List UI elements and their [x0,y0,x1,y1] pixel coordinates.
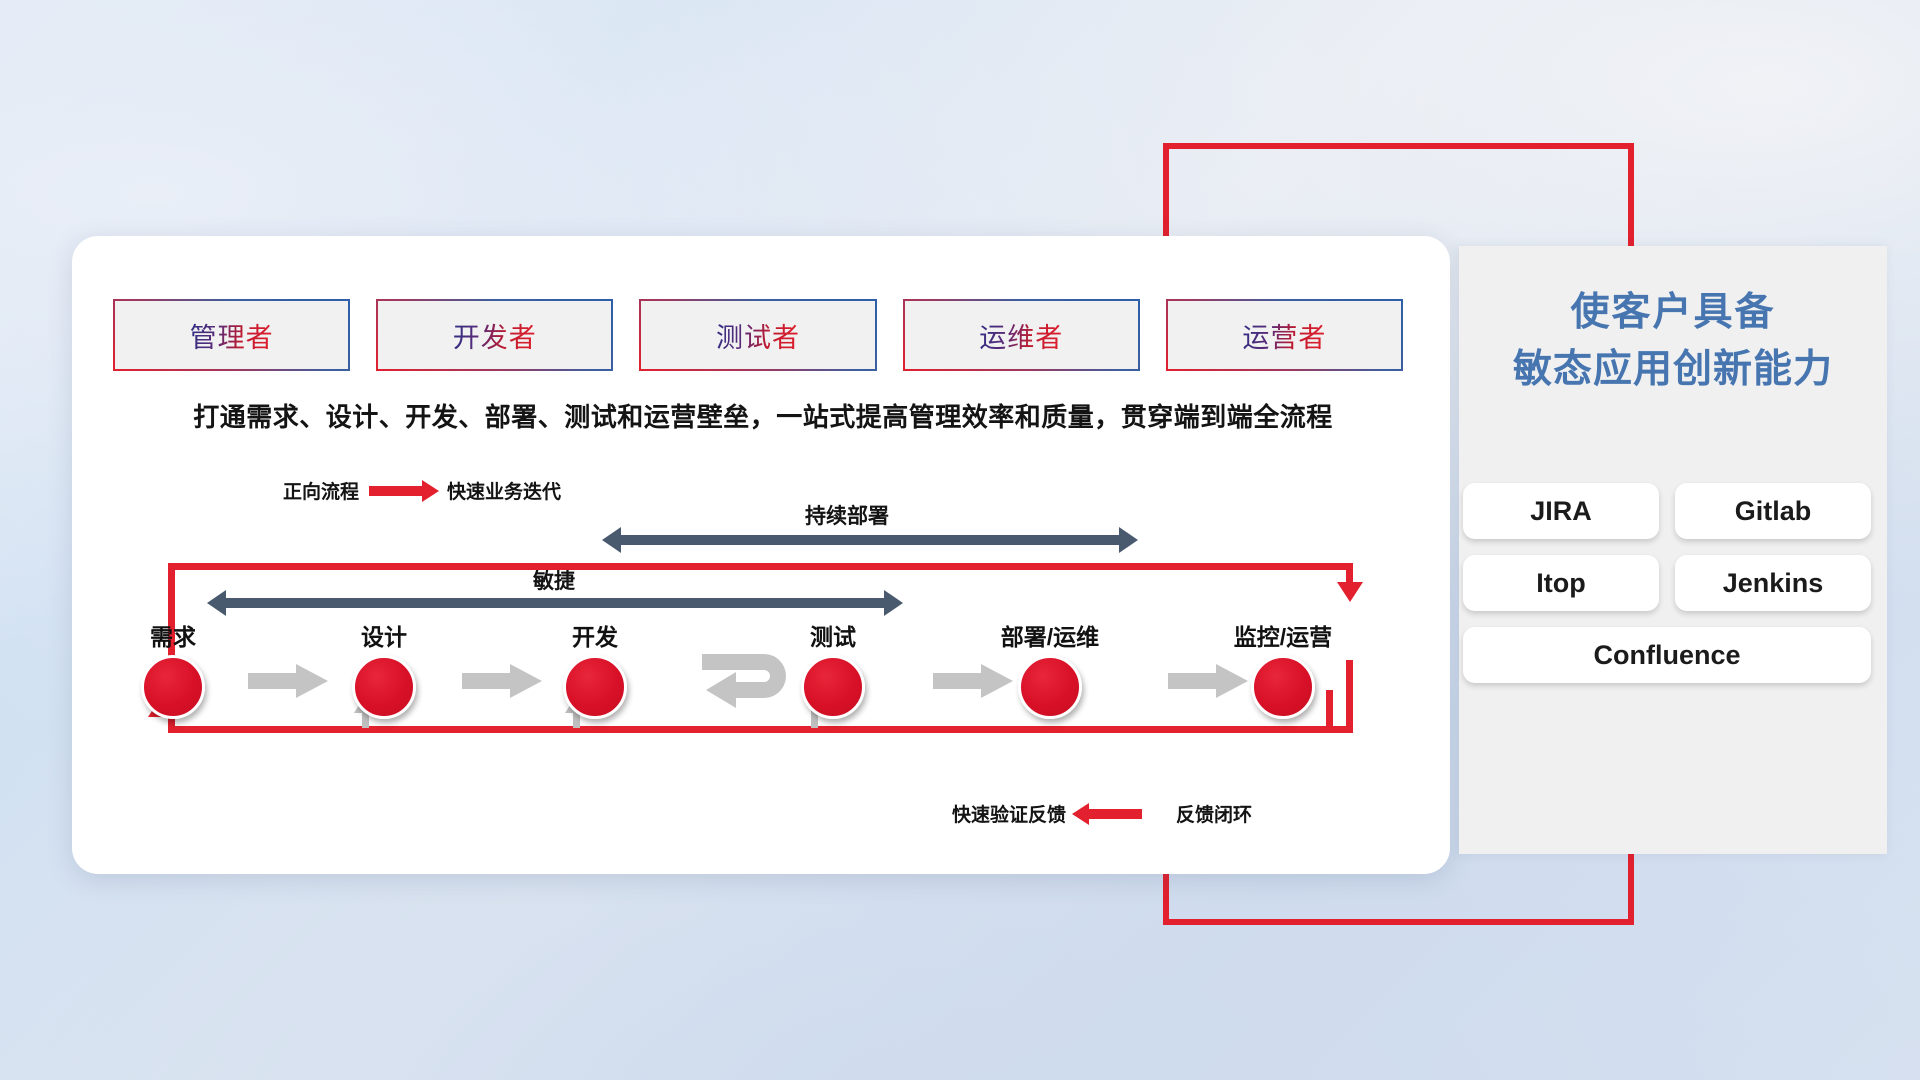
role-box-manager[interactable]: 管理者 [113,299,350,371]
stage-label: 测试 [768,618,898,652]
tool-pill-confluence[interactable]: Confluence [1463,627,1871,683]
stage-dot [1018,655,1082,719]
tool-label: Jenkins [1723,568,1824,599]
chevron-deploy-to-monitor-icon [1168,664,1234,690]
role-label: 测试者 [716,316,800,355]
stage-dot [1251,655,1315,719]
tool-label: Itop [1536,568,1585,599]
role-label: 开发者 [453,316,537,355]
tool-label: JIRA [1530,496,1592,527]
bracket-top-segment [1163,143,1634,149]
role-boxes: 管理者 开发者 测试者 运维者 运营者 [113,299,1403,371]
tool-label: Gitlab [1735,496,1812,527]
role-box-developer[interactable]: 开发者 [376,299,613,371]
feedback-loop-label: 反馈闭环 [1176,800,1252,827]
stage-dot [801,655,865,719]
stage-design[interactable]: 设计 [319,618,449,719]
arrow-right-red-icon [369,486,423,496]
tool-pill-itop[interactable]: Itop [1463,555,1659,611]
stage-label: 部署/运维 [985,618,1115,652]
headline-text: 打通需求、设计、开发、部署、测试和运营壁垒，一站式提高管理效率和质量，贯穿端到端… [113,397,1413,434]
chevron-test-to-deploy-icon [933,664,999,690]
stage-label: 监控/运营 [1218,618,1348,652]
role-box-ops[interactable]: 运维者 [903,299,1140,371]
forward-flow-result-label: 快速业务迭代 [447,477,561,504]
loop-top-segment [168,563,1353,570]
tool-pill-jenkins[interactable]: Jenkins [1675,555,1871,611]
panel-title-line1: 使客户具备 [1459,285,1887,342]
tool-label: Confluence [1593,640,1740,671]
forward-flow-label: 正向流程 [283,477,359,504]
panel-title-line2: 敏态应用创新能力 [1459,342,1887,399]
role-label: 运维者 [979,316,1063,355]
tool-list: JIRA Gitlab Itop Jenkins Confluence [1463,483,1883,683]
bracket-left-upper-segment [1163,143,1169,251]
feedback-result-label: 快速验证反馈 [952,800,1066,827]
continuous-deployment-arrow-icon [620,535,1120,545]
chevron-develop-test-loop-icon [702,652,768,678]
arrow-down-into-monitoring-icon [1337,582,1363,602]
stage-label: 开发 [530,618,660,652]
role-box-tester[interactable]: 测试者 [639,299,876,371]
continuous-deployment-label: 持续部署 [805,500,889,530]
role-label: 运营者 [1242,316,1326,355]
role-label: 管理者 [190,316,274,355]
bracket-bottom-segment [1163,919,1634,925]
slide-canvas: 管理者 开发者 测试者 运维者 运营者 打通需求、设计、开发、部署、测试和运营壁… [0,0,1920,1080]
agile-arrow-icon [225,598,885,608]
tool-pill-gitlab[interactable]: Gitlab [1675,483,1871,539]
tool-pill-jira[interactable]: JIRA [1463,483,1659,539]
chevron-design-to-develop-icon [462,664,528,690]
forward-flow-legend: 正向流程 快速业务迭代 [283,477,561,504]
stage-dot [141,655,205,719]
stage-dot [563,655,627,719]
panel-title: 使客户具备 敏态应用创新能力 [1459,285,1887,398]
stage-develop[interactable]: 开发 [530,618,660,719]
stage-label: 需求 [108,618,238,652]
role-box-operations[interactable]: 运营者 [1166,299,1403,371]
arrow-left-red-icon [1088,809,1142,819]
feedback-legend: 快速验证反馈 反馈闭环 [952,800,1252,827]
stage-demand[interactable]: 需求 [108,618,238,719]
chevron-demand-to-design-icon [248,664,314,690]
stage-dot [352,655,416,719]
stage-label: 设计 [319,618,449,652]
